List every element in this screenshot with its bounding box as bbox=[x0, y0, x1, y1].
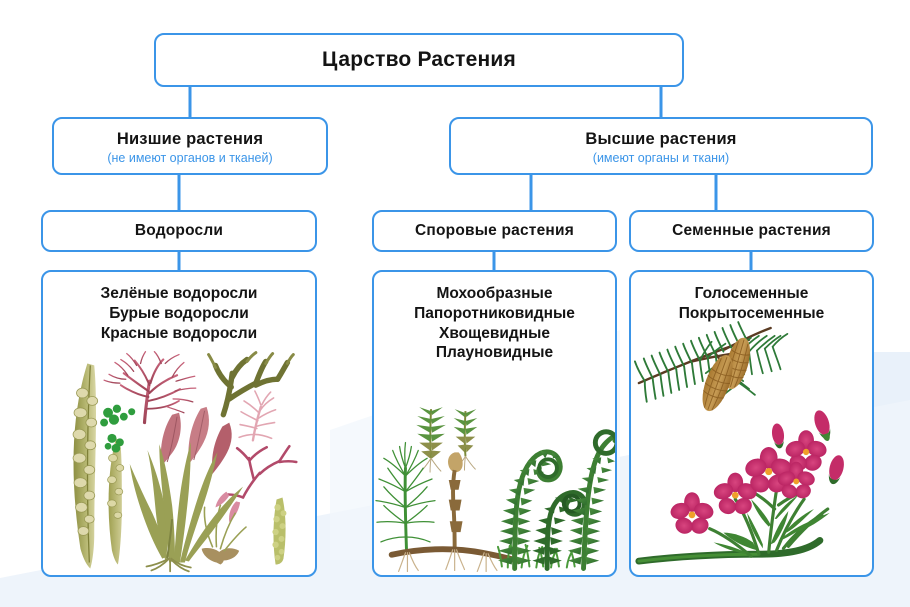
node-algae-heading-label: Водоросли bbox=[135, 222, 223, 240]
node-lower-plants-subtitle: (не имеют органов и тканей) bbox=[107, 151, 272, 165]
plant-kingdom-diagram: Царство Растения Низшие растения (не име… bbox=[0, 0, 910, 607]
node-seed-plants-heading-label: Семенные растения bbox=[672, 222, 831, 240]
node-lower-plants: Низшие растения (не имеют органов и ткан… bbox=[52, 117, 328, 175]
node-algae-body: Зелёные водорослиБурые водорослиКрасные … bbox=[41, 270, 317, 577]
algae-illustration bbox=[43, 350, 315, 575]
seed-plants-illustration bbox=[631, 320, 872, 575]
spore-plants-illustration bbox=[374, 380, 615, 575]
node-higher-plants-subtitle: (имеют органы и ткани) bbox=[593, 151, 729, 165]
node-seed-plants-heading: Семенные растения bbox=[629, 210, 874, 252]
node-kingdom: Царство Растения bbox=[154, 33, 684, 87]
node-seed-plants-body: ГолосеменныеПокрытосеменные bbox=[629, 270, 874, 577]
node-lower-plants-title: Низшие растения bbox=[117, 130, 263, 149]
node-algae-heading: Водоросли bbox=[41, 210, 317, 252]
node-higher-plants: Высшие растения (имеют органы и ткани) bbox=[449, 117, 873, 175]
node-kingdom-title: Царство Растения bbox=[322, 48, 516, 72]
algae-items-list: Зелёные водорослиБурые водорослиКрасные … bbox=[101, 284, 258, 343]
node-higher-plants-title: Высшие растения bbox=[585, 130, 736, 149]
node-spore-plants-heading: Споровые растения bbox=[372, 210, 617, 252]
node-spore-plants-body: МохообразныеПапоротниковидныеХвощевидные… bbox=[372, 270, 617, 577]
spore-plants-items-list: МохообразныеПапоротниковидныеХвощевидные… bbox=[414, 284, 575, 363]
node-spore-plants-heading-label: Споровые растения bbox=[415, 222, 574, 240]
seed-plants-items-list: ГолосеменныеПокрытосеменные bbox=[679, 284, 824, 324]
